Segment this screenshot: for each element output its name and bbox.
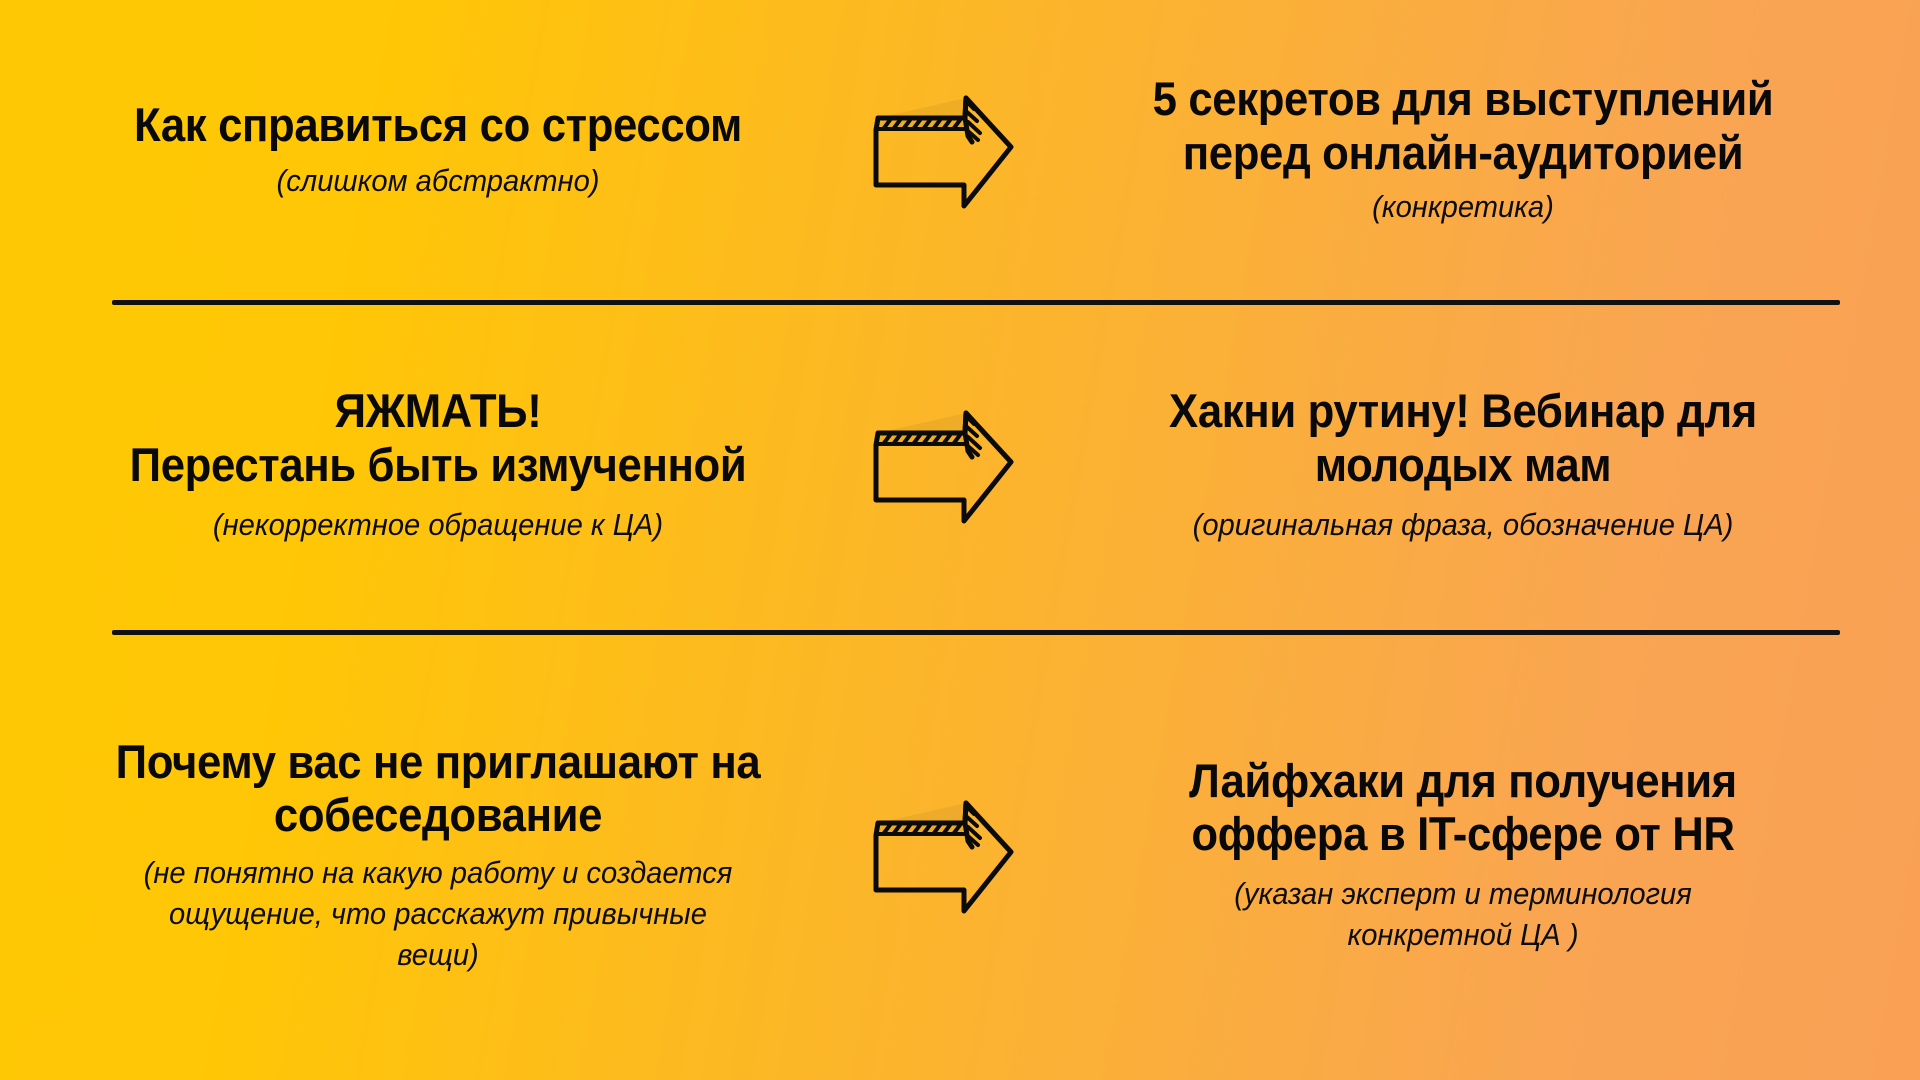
row-3-before-headline-line-1: Почему вас не приглашают на [66, 735, 810, 788]
row-1-after-note: (конкретика) [1073, 187, 1853, 228]
comparison-row-3: Почему вас не приглашают на собеседовани… [0, 630, 1920, 1080]
row-2-after-headline-line-2: молодых мам [1077, 438, 1849, 491]
row-3-arrow-cell [856, 795, 1031, 915]
row-3-after-headline: Лайфхаки для получения оффера в IT-сфере… [1077, 754, 1849, 860]
row-1-after-headline-line-1: 5 секретов для выступлений [1077, 72, 1849, 125]
row-3-before-headline: Почему вас не приглашают на собеседовани… [66, 735, 810, 841]
comparison-row-1: Как справиться со стрессом (слишком абст… [0, 0, 1920, 300]
row-3-after-block: Лайфхаки для получения оффера в IT-сфере… [1048, 754, 1878, 956]
row-3-after-note-line-1: (указан эксперт и терминология [1073, 874, 1853, 915]
row-1-before-note: (слишком абстрактно) [62, 161, 814, 202]
hand-drawn-right-arrow-icon [868, 90, 1018, 210]
row-3-before-block: Почему вас не приглашают на собеседовани… [38, 735, 838, 976]
row-3-after-headline-line-1: Лайфхаки для получения [1077, 754, 1849, 807]
row-2-before-headline-line-2: Перестань быть измученной [66, 438, 810, 491]
row-2-before-block: ЯЖМАТЬ! Перестань быть измученной (некор… [38, 384, 838, 545]
hand-drawn-right-arrow-icon [868, 405, 1018, 525]
row-2-after-note: (оригинальная фраза, обозначение ЦА) [1073, 505, 1853, 546]
row-2-arrow-cell [856, 405, 1031, 525]
comparison-row-2: ЯЖМАТЬ! Перестань быть измученной (некор… [0, 300, 1920, 630]
row-3-after-headline-line-2: оффера в IT-сфере от HR [1077, 807, 1849, 860]
row-2-before-headline: ЯЖМАТЬ! Перестань быть измученной [66, 384, 810, 490]
row-2-after-block: Хакни рутину! Вебинар для молодых мам (о… [1048, 384, 1878, 545]
row-1-arrow-cell [856, 90, 1031, 210]
row-1-before-headline: Как справиться со стрессом [66, 98, 810, 151]
row-1-after-headline: 5 секретов для выступлений перед онлайн-… [1077, 72, 1849, 178]
row-3-before-note-line-3: вещи) [62, 935, 814, 976]
row-3-before-headline-line-2: собеседование [66, 788, 810, 841]
row-1-after-headline-line-2: перед онлайн-аудиторией [1077, 126, 1849, 179]
row-3-before-note-line-2: ощущение, что расскажут привычные [62, 894, 814, 935]
row-3-after-note-line-2: конкретной ЦА ) [1073, 915, 1853, 956]
row-1-before-block: Как справиться со стрессом (слишком абст… [38, 98, 838, 202]
row-2-before-note: (некорректное обращение к ЦА) [62, 505, 814, 546]
row-3-before-note-line-1: (не понятно на какую работу и создается [62, 853, 814, 894]
row-2-after-headline: Хакни рутину! Вебинар для молодых мам [1077, 384, 1849, 490]
row-2-before-headline-line-1: ЯЖМАТЬ! [66, 384, 810, 437]
hand-drawn-right-arrow-icon [868, 795, 1018, 915]
row-2-after-headline-line-1: Хакни рутину! Вебинар для [1077, 384, 1849, 437]
row-3-after-note: (указан эксперт и терминология конкретно… [1073, 874, 1853, 956]
row-1-after-block: 5 секретов для выступлений перед онлайн-… [1048, 72, 1878, 227]
row-3-before-note: (не понятно на какую работу и создается … [62, 853, 814, 976]
infographic-canvas: Как справиться со стрессом (слишком абст… [0, 0, 1920, 1080]
